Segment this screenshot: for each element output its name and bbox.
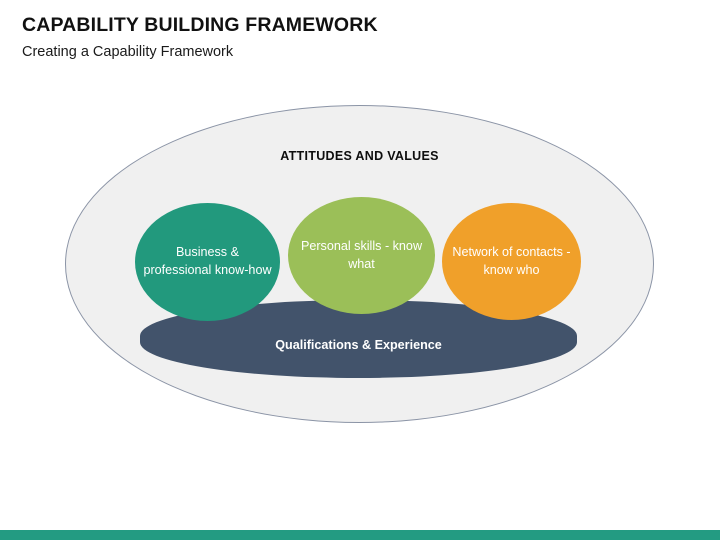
pillar-network-label: Network of contacts - know who [450,244,573,280]
pillar-business-professional: Business & professional know-how [135,203,280,321]
pillar-business-label: Business & professional know-how [143,244,272,280]
attitudes-and-values-label: ATTITUDES AND VALUES [65,149,654,163]
pillar-personal-label: Personal skills - know what [296,238,427,274]
pillar-network-contacts: Network of contacts - know who [442,203,581,320]
capability-framework-diagram: ATTITUDES AND VALUES Qualifications & Ex… [0,0,720,540]
footer-accent-bar [0,530,720,540]
pillar-personal-skills: Personal skills - know what [288,197,435,314]
qualifications-experience-label: Qualifications & Experience [140,338,577,352]
slide-canvas: CAPABILITY BUILDING FRAMEWORK Creating a… [0,0,720,540]
